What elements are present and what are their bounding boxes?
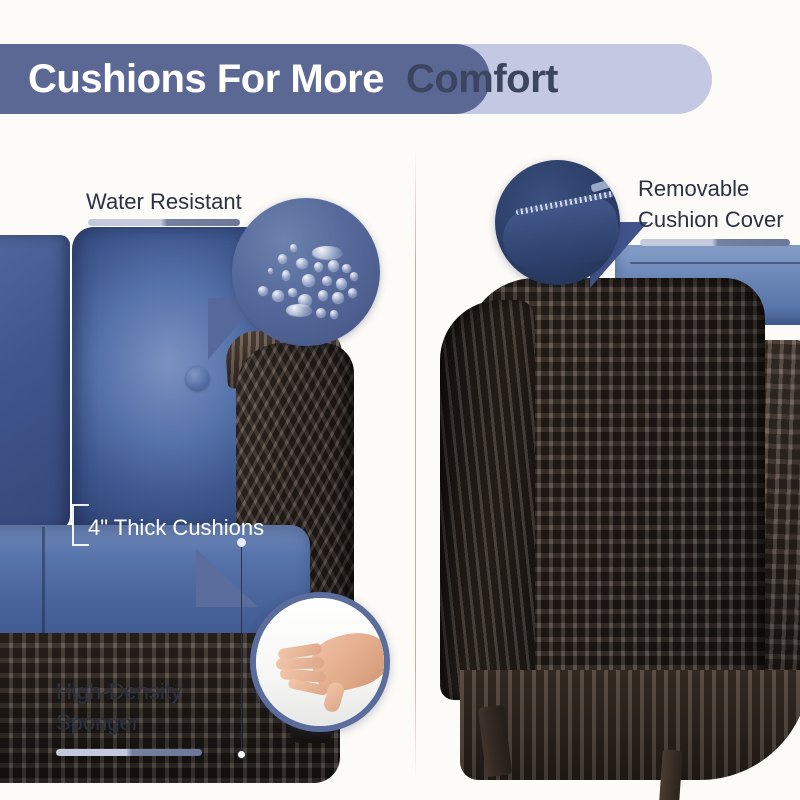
banner-title-part1: Cushions For More bbox=[0, 57, 384, 102]
armchair-wing-panel bbox=[440, 300, 535, 700]
label-water-resistant: Water Resistant bbox=[86, 186, 242, 217]
thickness-measure-bracket bbox=[72, 504, 74, 546]
hand-pressing-foam-callout bbox=[250, 592, 390, 732]
label-high-density-line1: High-Density bbox=[56, 676, 182, 707]
pointer-dot-bottom bbox=[237, 750, 246, 759]
banner-title: Cushions For More Comfort bbox=[0, 44, 760, 114]
removable-cover-callout bbox=[495, 160, 620, 285]
label-removable-cover-line1: Removable bbox=[638, 173, 749, 204]
underline-high-density bbox=[56, 749, 202, 756]
underline-water-resistant bbox=[88, 219, 240, 226]
armchair-cushion-seam bbox=[630, 262, 800, 264]
pointer-line-sponger bbox=[241, 546, 242, 754]
underline-removable-cover bbox=[640, 239, 790, 246]
cover-flap bbox=[499, 195, 620, 274]
water-droplets-callout bbox=[232, 198, 380, 346]
label-removable-cover-line2: Cushion Cover bbox=[638, 204, 784, 235]
armchair-base-skirt bbox=[460, 670, 800, 780]
label-high-density-line2: Sponger bbox=[56, 707, 139, 738]
seat-cushion-seam bbox=[42, 527, 45, 643]
loveseat-back-cushion-left bbox=[0, 235, 70, 530]
banner-title-part2: Comfort bbox=[384, 57, 558, 102]
infographic-canvas: Cushions For More Comfort bbox=[0, 0, 800, 800]
cushion-tuft-button bbox=[186, 367, 209, 390]
pointer-dot-top bbox=[237, 538, 246, 547]
foam-callout-tail bbox=[196, 549, 258, 607]
